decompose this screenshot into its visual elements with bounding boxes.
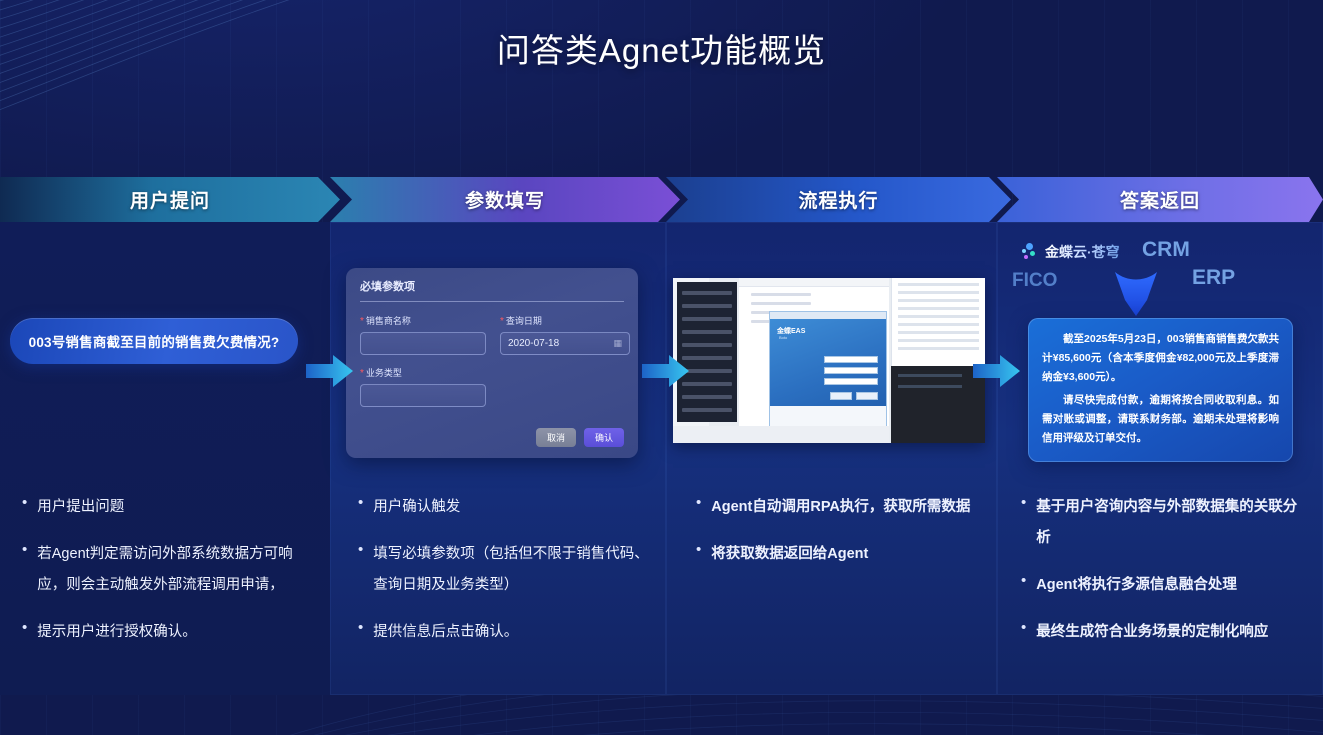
bullet-dot-icon: • bbox=[358, 617, 363, 648]
bullet-dot-icon: • bbox=[22, 539, 27, 601]
bullet-dot-icon: • bbox=[358, 492, 363, 523]
bullet-dot-icon: • bbox=[696, 539, 701, 570]
list-item-text: Agent将执行多源信息融合处理 bbox=[1036, 570, 1237, 601]
field-business-type-label: *业务类型 bbox=[360, 366, 486, 379]
step-header-2[interactable]: 参数填写 bbox=[330, 177, 680, 222]
list-item-text: 用户提出问题 bbox=[37, 492, 124, 523]
required-asterisk-icon: * bbox=[500, 316, 504, 327]
step-header-4[interactable]: 答案返回 bbox=[997, 177, 1323, 222]
query-date-value: 2020-07-18 bbox=[508, 338, 559, 349]
bullet-dot-icon: • bbox=[358, 539, 363, 601]
list-item-text: 填写必填参数项（包括但不限于销售代码、查询日期及业务类型） bbox=[373, 539, 652, 601]
field-dealer-name: *销售商名称 bbox=[360, 314, 486, 355]
answer-paragraph-1: 截至2025年5月23日，003销售商销售费欠款共计¥85,600元（含本季度佣… bbox=[1042, 330, 1279, 387]
screenshot-bottom-strip bbox=[673, 426, 889, 443]
field-query-date: *查询日期 2020-07-18 ▦ bbox=[500, 314, 630, 355]
list-item-text: 提供信息后点击确认。 bbox=[373, 617, 518, 648]
list-item: • 最终生成符合业务场景的定制化响应 bbox=[1021, 617, 1309, 648]
form-title: 必填参数项 bbox=[360, 278, 624, 301]
flow-arrow-2 bbox=[642, 352, 690, 390]
list-item: • 填写必填参数项（包括但不限于销售代码、查询日期及业务类型） bbox=[358, 539, 652, 601]
eas-login-button[interactable] bbox=[830, 392, 852, 400]
list-item: • 若Agent判定需访问外部系统数据方可响应，则会主动触发外部流程调用申请， bbox=[22, 539, 316, 601]
dialog-title-bar bbox=[770, 312, 886, 319]
answer-card: 截至2025年5月23日，003销售商销售费欠款共计¥85,600元（含本季度佣… bbox=[1028, 318, 1293, 462]
column3-bullet-list: • Agent自动调用RPA执行，获取所需数据 • 将获取数据返回给Agent bbox=[696, 492, 983, 586]
list-item-text: 若Agent判定需访问外部系统数据方可响应，则会主动触发外部流程调用申请， bbox=[37, 539, 316, 601]
bullet-dot-icon: • bbox=[1021, 617, 1026, 648]
screenshot-right-panel bbox=[891, 278, 985, 366]
eas-password-input[interactable] bbox=[824, 367, 878, 374]
eas-exit-button[interactable] bbox=[856, 392, 878, 400]
step-header-band: 用户提问 参数填写 流程执行 答案返回 bbox=[0, 177, 1323, 222]
query-date-input[interactable]: 2020-07-18 ▦ bbox=[500, 332, 630, 355]
arrow-down-icon bbox=[1107, 270, 1165, 318]
list-item: • 用户确认触发 bbox=[358, 492, 652, 523]
answer-paragraph-2: 请尽快完成付款，逾期将按合同收取利息。如需对账或调整，请联系财务部。逾期未处理将… bbox=[1042, 391, 1279, 448]
column-answer-return: 金蝶云·苍穹 CRM FICO ERP 截至2025年5月23日，003销售商销… bbox=[997, 222, 1323, 695]
list-item-text: 将获取数据返回给Agent bbox=[711, 539, 868, 570]
eas-app-subtitle: Boto bbox=[779, 335, 787, 340]
bullet-dot-icon: • bbox=[1021, 492, 1026, 554]
bullet-dot-icon: • bbox=[696, 492, 701, 523]
step-header-2-label: 参数填写 bbox=[465, 186, 545, 213]
column-parameter-fill: 必填参数项 *销售商名称 *查询日期 2020-07-18 ▦ bbox=[330, 222, 666, 695]
calendar-icon[interactable]: ▦ bbox=[613, 338, 622, 349]
kingdee-cloud-logo: 金蝶云·苍穹 bbox=[1022, 242, 1120, 262]
step-header-3-label: 流程执行 bbox=[798, 186, 878, 213]
system-logo-group: 金蝶云·苍穹 CRM FICO ERP bbox=[997, 230, 1323, 302]
field-query-date-label: *查询日期 bbox=[500, 314, 630, 327]
question-bubble: 003号销售商截至目前的销售费欠费情况? bbox=[10, 318, 298, 364]
column-user-question: 003号销售商截至目前的销售费欠费情况? • 用户提出问题 • 若Agent判定… bbox=[0, 222, 330, 695]
rpa-desktop-screenshot: 金蝶EAS Boto bbox=[673, 278, 985, 443]
column1-bullet-list: • 用户提出问题 • 若Agent判定需访问外部系统数据方可响应，则会主动触发外… bbox=[22, 492, 316, 664]
bullet-dot-icon: • bbox=[22, 617, 27, 648]
list-item-text: Agent自动调用RPA执行，获取所需数据 bbox=[711, 492, 970, 523]
list-item: • 提示用户进行授权确认。 bbox=[22, 617, 316, 648]
column2-bullet-list: • 用户确认触发 • 填写必填参数项（包括但不限于销售代码、查询日期及业务类型）… bbox=[358, 492, 652, 664]
bullet-dot-icon: • bbox=[22, 492, 27, 523]
kingdee-cloud-label: 金蝶云·苍穹 bbox=[1045, 242, 1120, 262]
flow-arrow-1 bbox=[306, 352, 354, 390]
step-header-1-label: 用户提问 bbox=[130, 186, 210, 213]
field-business-type: *业务类型 bbox=[360, 366, 486, 407]
list-item-text: 用户确认触发 bbox=[373, 492, 460, 523]
kingdee-dots-icon bbox=[1022, 243, 1040, 261]
eas-database-input[interactable] bbox=[824, 378, 878, 385]
list-item-text: 最终生成符合业务场景的定制化响应 bbox=[1036, 617, 1268, 648]
bullet-dot-icon: • bbox=[1021, 570, 1026, 601]
required-asterisk-icon: * bbox=[360, 316, 364, 327]
dealer-name-input[interactable] bbox=[360, 332, 486, 355]
list-item: • Agent将执行多源信息融合处理 bbox=[1021, 570, 1309, 601]
step-header-4-label: 答案返回 bbox=[1120, 186, 1200, 213]
step-header-3[interactable]: 流程执行 bbox=[666, 177, 1011, 222]
list-item-text: 提示用户进行授权确认。 bbox=[37, 617, 197, 648]
flow-arrow-3 bbox=[973, 352, 1021, 390]
confirm-button[interactable]: 确认 bbox=[584, 428, 624, 447]
form-buttons: 取消 确认 bbox=[536, 428, 624, 447]
list-item: • Agent自动调用RPA执行，获取所需数据 bbox=[696, 492, 983, 523]
crm-logo: CRM bbox=[1142, 238, 1190, 262]
list-item: • 提供信息后点击确认。 bbox=[358, 617, 652, 648]
parameter-form-card: 必填参数项 *销售商名称 *查询日期 2020-07-18 ▦ bbox=[346, 268, 638, 458]
required-asterisk-icon: * bbox=[360, 368, 364, 379]
list-item: • 基于用户咨询内容与外部数据集的关联分析 bbox=[1021, 492, 1309, 554]
column4-bullet-list: • 基于用户咨询内容与外部数据集的关联分析 • Agent将执行多源信息融合处理… bbox=[1021, 492, 1309, 664]
eas-login-dialog: 金蝶EAS Boto bbox=[769, 311, 887, 431]
fico-logo: FICO bbox=[1012, 270, 1057, 292]
list-item: • 将获取数据返回给Agent bbox=[696, 539, 983, 570]
step-header-1[interactable]: 用户提问 bbox=[0, 177, 340, 222]
column-process-execution: 金蝶EAS Boto • Agent自动调用RPA执行，获取所需数据 • 将获取… bbox=[666, 222, 997, 695]
list-item-text: 基于用户咨询内容与外部数据集的关联分析 bbox=[1036, 492, 1309, 554]
form-divider bbox=[360, 301, 624, 302]
field-dealer-name-label: *销售商名称 bbox=[360, 314, 486, 327]
business-type-input[interactable] bbox=[360, 384, 486, 407]
cancel-button[interactable]: 取消 bbox=[536, 428, 576, 447]
list-item: • 用户提出问题 bbox=[22, 492, 316, 523]
eas-dialog-buttons bbox=[830, 392, 878, 400]
page-title: 问答类Agnet功能概览 bbox=[0, 24, 1323, 72]
screenshot-console-panel bbox=[891, 366, 985, 443]
eas-username-input[interactable] bbox=[824, 356, 878, 363]
screenshot-toolbar bbox=[739, 278, 889, 287]
erp-logo: ERP bbox=[1192, 266, 1235, 290]
